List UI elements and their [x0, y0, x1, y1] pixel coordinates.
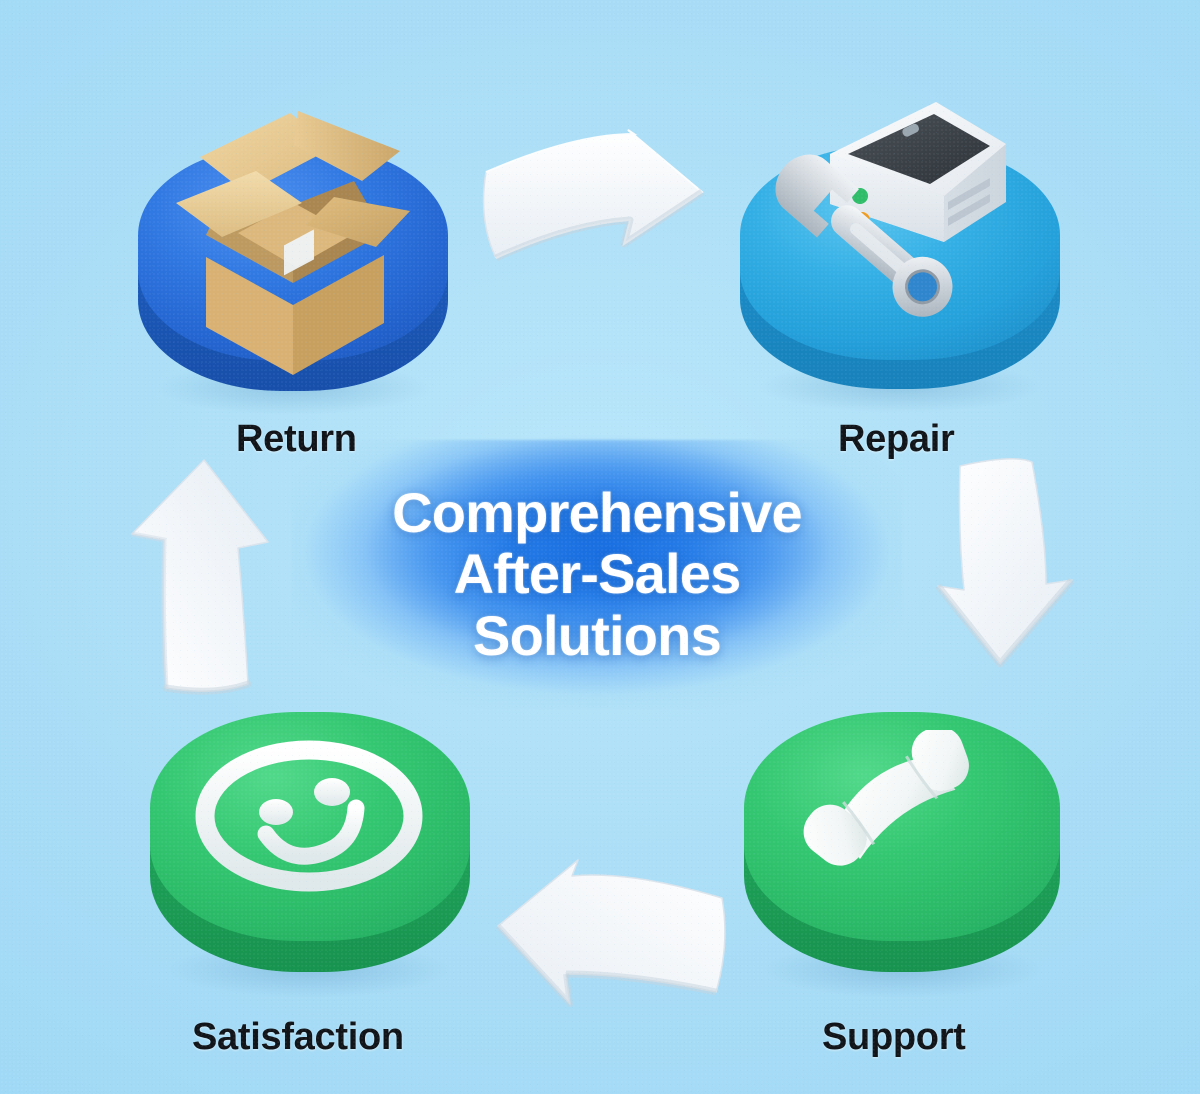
node-label-satisfaction: Satisfaction: [192, 1016, 404, 1059]
title-line-2: After-Sales: [454, 544, 741, 603]
arrow-return-to-repair: [478, 128, 712, 294]
node-satisfaction[interactable]: [140, 706, 480, 992]
node-label-return: Return: [236, 418, 357, 461]
node-support[interactable]: [734, 706, 1070, 992]
open-box-icon: [138, 85, 448, 375]
node-label-repair: Repair: [838, 418, 954, 461]
arrow-support-to-satisfaction: [476, 856, 730, 1022]
node-return[interactable]: [128, 140, 458, 410]
telephone-handset-icon: [790, 730, 1016, 906]
title-line-1: Comprehensive: [392, 483, 802, 542]
center-title-panel: Comprehensive After-Sales Solutions: [292, 440, 902, 708]
node-repair[interactable]: [730, 140, 1070, 408]
wrench-and-device-icon: [744, 92, 1064, 362]
title-line-3: Solutions: [473, 606, 721, 665]
smiley-face-icon: [190, 734, 428, 904]
page-title: Comprehensive After-Sales Solutions: [292, 440, 902, 708]
node-label-support: Support: [822, 1016, 966, 1059]
arrow-repair-to-support: [928, 452, 1080, 684]
after-sales-cycle-infographic: Comprehensive After-Sales Solutions: [0, 0, 1200, 1094]
arrow-satisfaction-to-return: [118, 456, 280, 694]
